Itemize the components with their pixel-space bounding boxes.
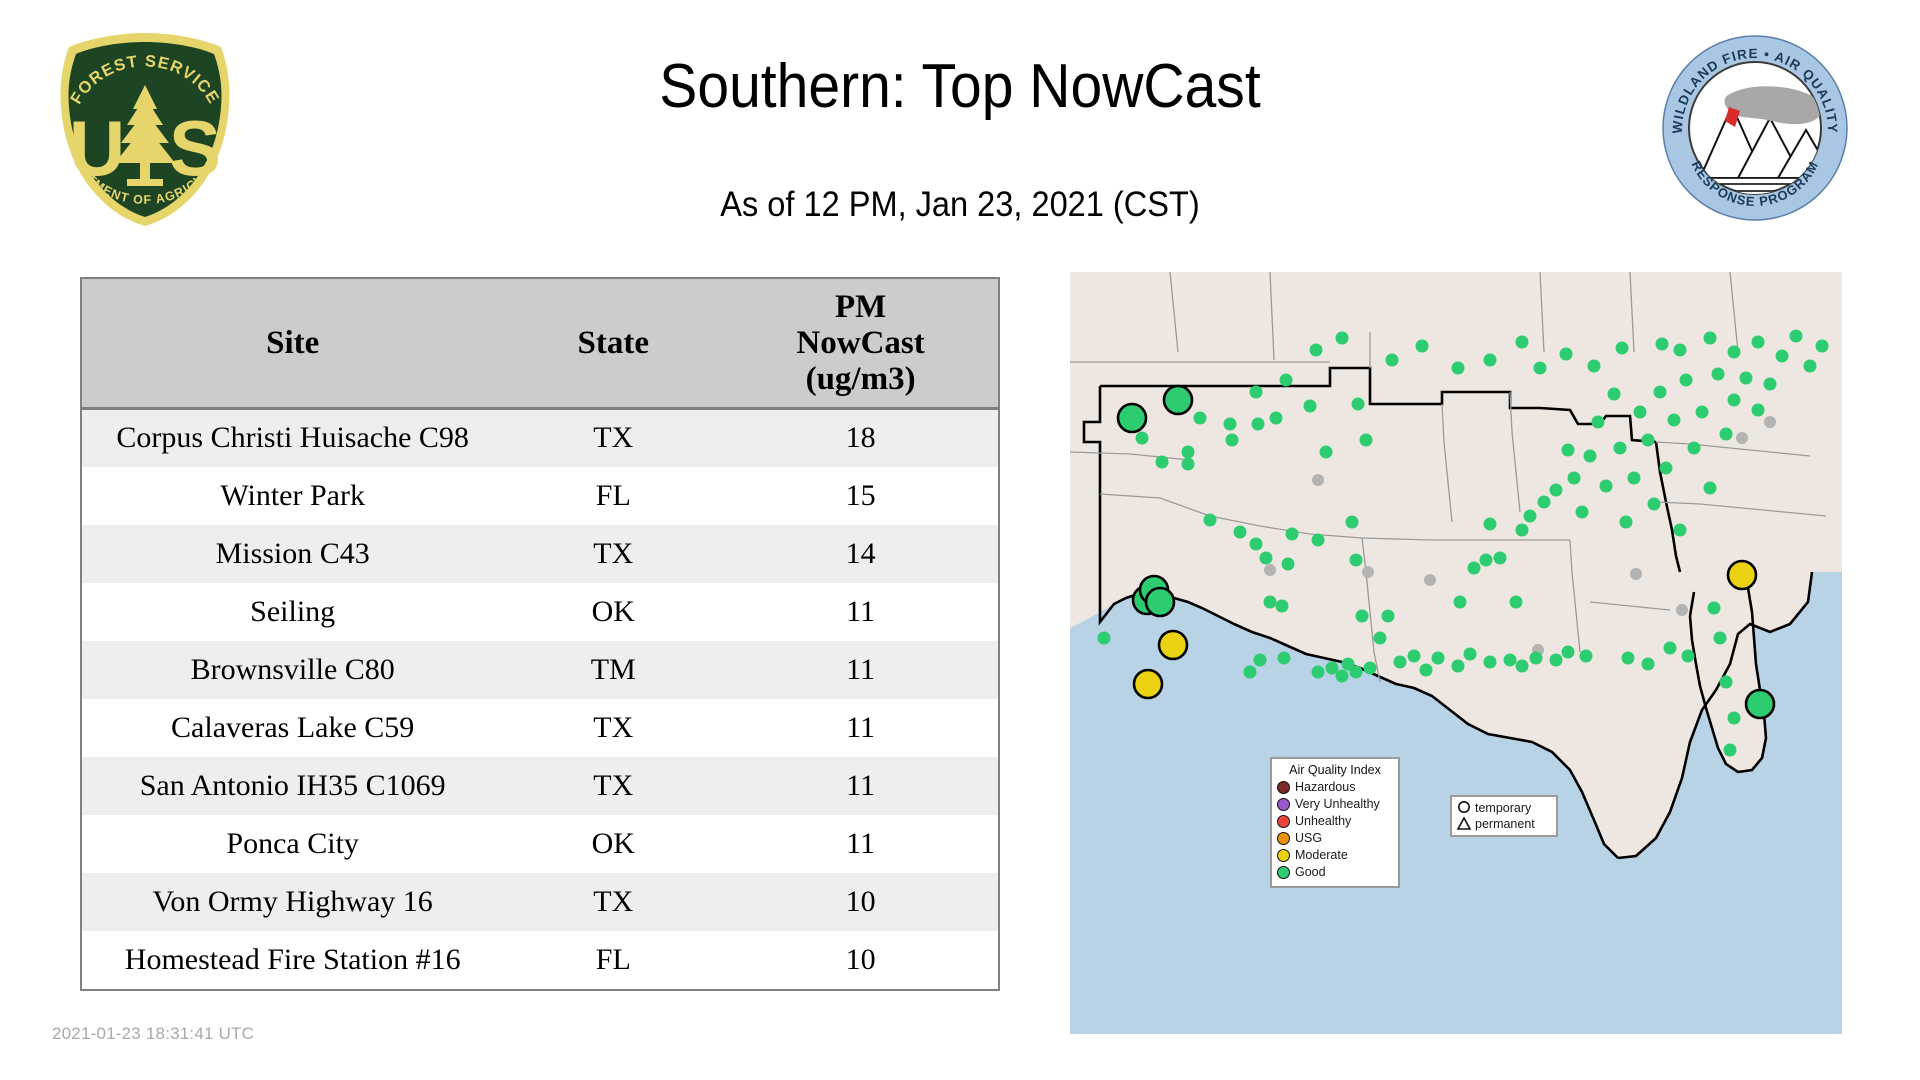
cell-site: Corpus Christi Huisache C98 [82,409,503,467]
table-row: Mission C43 TX 14 [82,525,998,583]
air-quality-map[interactable]: Air Quality Index Hazardous Very Unhealt… [1070,272,1842,1034]
cell-pm: 10 [723,931,998,989]
cell-site: Homestead Fire Station #16 [82,931,503,989]
pm-header-line2: NowCast [796,325,924,361]
cell-state: TX [503,873,723,931]
table-header: Site State PM NowCast (ug/m3) [82,279,998,409]
cell-pm: 11 [723,699,998,757]
cell-pm: 10 [723,873,998,931]
aqi-legend-item-very-unhealthy: Very Unhealthy [1277,796,1393,813]
aqi-label-usg: USG [1295,832,1322,845]
table-row: Calaveras Lake C59 TX 11 [82,699,998,757]
table-row: San Antonio IH35 C1069 TX 11 [82,757,998,815]
aqi-dot-moderate [1277,849,1290,862]
cell-site: Winter Park [82,467,503,525]
aqi-label-hazardous: Hazardous [1295,781,1355,794]
cell-pm: 14 [723,525,998,583]
nowcast-table: Site State PM NowCast (ug/m3) Corpus Chr… [82,279,998,989]
aqi-dot-hazardous [1277,781,1290,794]
cell-state: OK [503,583,723,641]
marker-good-large [1118,404,1146,432]
table-row: Brownsville C80 TM 11 [82,641,998,699]
table-row: Winter Park FL 15 [82,467,998,525]
marker-moderate-large [1159,631,1187,659]
pm-header-line1: PM [835,289,886,325]
aqi-legend-item-moderate: Moderate [1277,847,1393,864]
cell-state: FL [503,931,723,989]
cell-pm: 15 [723,467,998,525]
aqi-legend-item-good: Good [1277,864,1393,881]
cell-site: Calaveras Lake C59 [82,699,503,757]
aqi-legend-item-hazardous: Hazardous [1277,779,1393,796]
cell-pm: 11 [723,757,998,815]
cell-pm: 18 [723,409,998,467]
aqi-dot-usg [1277,832,1290,845]
cell-pm: 11 [723,641,998,699]
cell-site: San Antonio IH35 C1069 [82,757,503,815]
aqi-label-good: Good [1295,866,1326,879]
table-row: Corpus Christi Huisache C98 TX 18 [82,409,998,467]
aqi-legend-item-usg: USG [1277,830,1393,847]
table-row: Homestead Fire Station #16 FL 10 [82,931,998,989]
cell-state: FL [503,467,723,525]
site-legend-item-temporary: temporary [1456,800,1552,816]
forest-service-logo: FOREST SERVICE U S DEPARTMENT OF AGRICUL… [45,25,245,230]
aqi-dot-very-unhealthy [1277,798,1290,811]
table-row: Ponca City OK 11 [82,815,998,873]
page-subtitle: As of 12 PM, Jan 23, 2021 (CST) [346,185,1574,225]
cell-state: OK [503,815,723,873]
aqi-legend: Air Quality Index Hazardous Very Unhealt… [1270,757,1400,888]
table-row: Seiling OK 11 [82,583,998,641]
cell-state: TX [503,699,723,757]
cell-site: Mission C43 [82,525,503,583]
aqi-label-very-unhealthy: Very Unhealthy [1295,798,1380,811]
aqi-dot-good [1277,866,1290,879]
column-header-state: State [503,279,723,409]
site-legend-item-permanent: permanent [1456,816,1552,832]
cell-site: Von Ormy Highway 16 [82,873,503,931]
cell-site: Ponca City [82,815,503,873]
site-legend-label-permanent: permanent [1475,817,1535,831]
cell-site: Seiling [82,583,503,641]
cell-site: Brownsville C80 [82,641,503,699]
site-type-legend: temporary permanent [1450,795,1558,837]
page-title: Southern: Top NowCast [353,52,1567,122]
table-row: Von Ormy Highway 16 TX 10 [82,873,998,931]
page-header: FOREST SERVICE U S DEPARTMENT OF AGRICUL… [0,0,1920,225]
site-legend-label-temporary: temporary [1475,801,1531,815]
top-nowcast-table: Site State PM NowCast (ug/m3) Corpus Chr… [80,277,1000,991]
table-body: Corpus Christi Huisache C98 TX 18 Winter… [82,409,998,989]
cell-pm: 11 [723,583,998,641]
table-header-row: Site State PM NowCast (ug/m3) [82,279,998,409]
generated-timestamp: 2021-01-23 18:31:41 UTC [52,1024,254,1044]
aqi-label-moderate: Moderate [1295,849,1348,862]
aqi-dot-unhealthy [1277,815,1290,828]
marker-moderate-large [1134,670,1162,698]
pm-header-line3: (ug/m3) [806,361,916,397]
marker-good-large [1746,690,1774,718]
marker-good-large [1146,588,1174,616]
aqi-label-unhealthy: Unhealthy [1295,815,1351,828]
marker-moderate-large [1728,561,1756,589]
column-header-site: Site [82,279,503,409]
cell-pm: 11 [723,815,998,873]
circle-icon [1456,800,1472,816]
map-canvas [1070,272,1842,1034]
cell-state: TX [503,757,723,815]
column-header-pm-nowcast: PM NowCast (ug/m3) [723,279,998,409]
cell-state: TX [503,409,723,467]
cell-state: TM [503,641,723,699]
cell-state: TX [503,525,723,583]
marker-good-large [1164,386,1192,414]
wildland-fire-logo: WILDLAND FIRE • AIR QUALITY RESPONSE PRO… [1660,33,1850,223]
triangle-icon [1456,816,1472,832]
aqi-legend-title: Air Quality Index [1277,763,1393,777]
aqi-legend-item-unhealthy: Unhealthy [1277,813,1393,830]
